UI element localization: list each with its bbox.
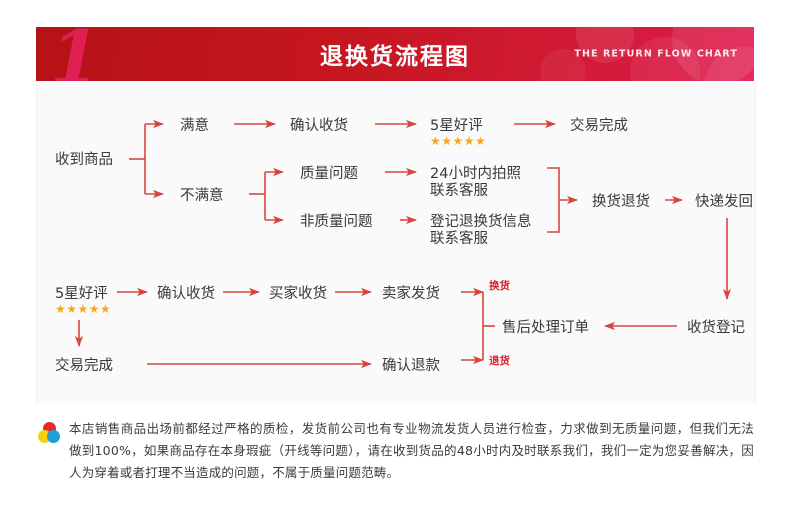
return-flow-chart-page: 1 退换货流程图 THE RETURN FLOW CHART 收到商品 满意 bbox=[0, 0, 790, 516]
branch-label-refund: 退货 bbox=[489, 354, 510, 367]
venn-three-circles-icon bbox=[38, 422, 60, 444]
node-satisfied: 满意 bbox=[180, 116, 209, 134]
node-photo-24h-line1: 24小时内拍照 bbox=[430, 165, 521, 182]
node-five-star-bottom: 5星好评 bbox=[55, 285, 108, 302]
node-express-back: 快递发回 bbox=[695, 193, 753, 210]
node-aftersale-order: 售后处理订单 bbox=[502, 319, 589, 336]
node-register-line1: 登记退换货信息 bbox=[430, 213, 532, 230]
node-seller-ship: 卖家发货 bbox=[382, 285, 440, 302]
node-received: 收到商品 bbox=[55, 151, 113, 168]
page-subtitle: THE RETURN FLOW CHART bbox=[574, 49, 738, 60]
node-confirm-refund: 确认退款 bbox=[382, 357, 440, 374]
branch-label-exchange: 换货 bbox=[489, 279, 510, 292]
footer-note-text: 本店销售商品出场前都经过严格的质检，发货前公司也有专业物流发货人员进行检查，力求… bbox=[69, 418, 754, 484]
node-deal-done-bottom: 交易完成 bbox=[55, 356, 113, 374]
node-register-line2: 联系客服 bbox=[430, 230, 488, 247]
node-deal-done-top: 交易完成 bbox=[570, 116, 628, 134]
flow-diagram: 收到商品 满意 确认收货 5星好评 ★★★★★ 交易完成 不满意 质量问题 非质… bbox=[36, 84, 756, 404]
header-banner: 1 退换货流程图 THE RETURN FLOW CHART bbox=[36, 27, 754, 81]
node-buyer-receive: 买家收货 bbox=[269, 285, 327, 302]
node-five-star-top: 5星好评 bbox=[430, 117, 483, 134]
node-quality-issue: 质量问题 bbox=[300, 165, 358, 182]
node-receipt-register: 收货登记 bbox=[687, 319, 745, 336]
node-confirm-receipt-top: 确认收货 bbox=[290, 117, 348, 134]
node-confirm-receipt-bottom: 确认收货 bbox=[157, 285, 215, 302]
node-photo-24h-line2: 联系客服 bbox=[430, 182, 488, 199]
footer-note: 本店销售商品出场前都经过严格的质检，发货前公司也有专业物流发货人员进行检查，力求… bbox=[36, 418, 754, 484]
rating-stars-bottom: ★★★★★ bbox=[55, 302, 111, 316]
rating-stars-top: ★★★★★ bbox=[430, 134, 486, 148]
node-unsatisfied: 不满意 bbox=[180, 186, 224, 204]
node-non-quality-issue: 非质量问题 bbox=[300, 213, 373, 230]
node-exchange-return: 换货退货 bbox=[592, 193, 650, 210]
